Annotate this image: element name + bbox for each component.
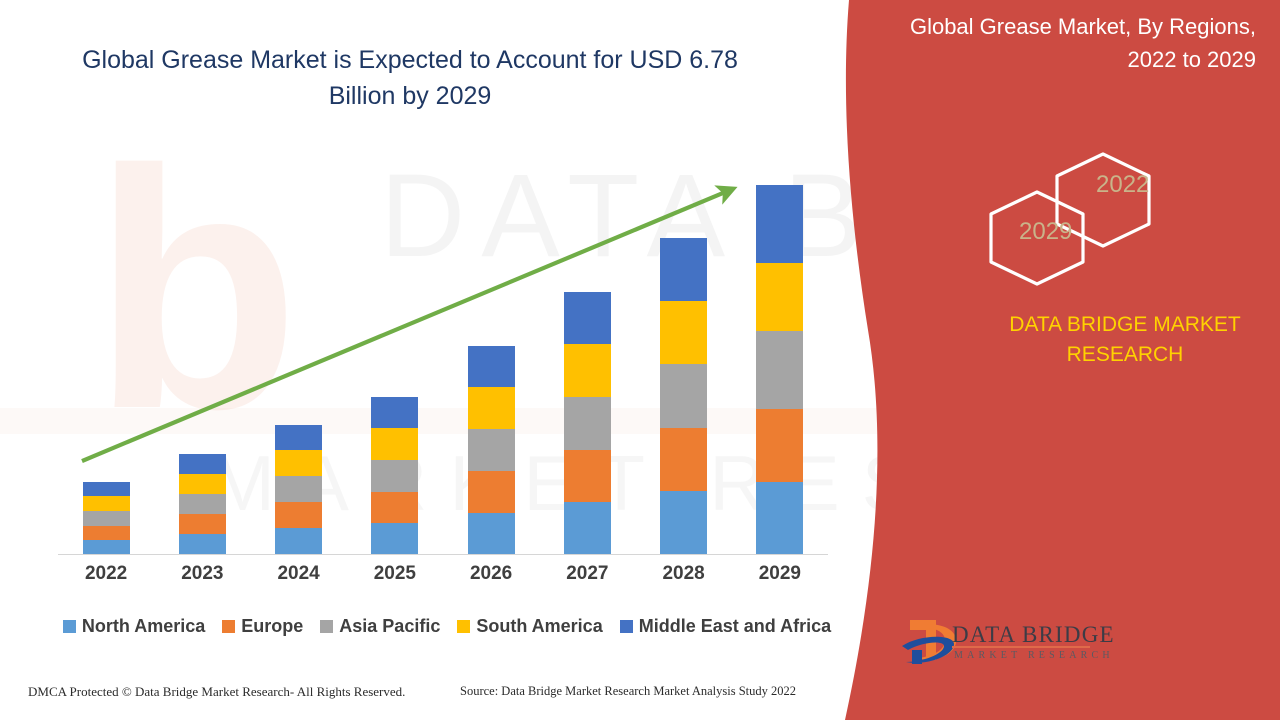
- legend-label: Asia Pacific: [339, 616, 440, 637]
- bar-segment[interactable]: [564, 450, 611, 502]
- bar-group: [58, 150, 828, 554]
- legend-swatch-icon: [63, 620, 76, 633]
- bar-slot: [443, 150, 539, 554]
- stacked-bar[interactable]: [564, 292, 611, 554]
- bar-segment[interactable]: [468, 429, 515, 471]
- chart-title: Global Grease Market is Expected to Acco…: [60, 42, 760, 115]
- x-axis-label: 2024: [251, 563, 347, 585]
- bar-segment[interactable]: [83, 540, 130, 554]
- x-axis-labels: 20222023202420252026202720282029: [58, 563, 828, 585]
- stacked-bar[interactable]: [371, 397, 418, 554]
- legend-item[interactable]: South America: [457, 616, 602, 637]
- bar-segment[interactable]: [275, 528, 322, 554]
- legend-swatch-icon: [457, 620, 470, 633]
- legend-swatch-icon: [320, 620, 333, 633]
- stacked-bar[interactable]: [179, 454, 226, 554]
- bar-segment[interactable]: [179, 474, 226, 494]
- hexagon-label-2029: 2029: [1019, 218, 1072, 246]
- bar-segment[interactable]: [660, 301, 707, 364]
- bar-segment[interactable]: [275, 450, 322, 476]
- bar-slot: [539, 150, 635, 554]
- dbmr-logo-name: DATA BRIDGE: [952, 622, 1115, 648]
- bar-segment[interactable]: [371, 397, 418, 428]
- bar-segment[interactable]: [756, 185, 803, 263]
- bar-slot: [636, 150, 732, 554]
- legend-label: Middle East and Africa: [639, 616, 831, 637]
- x-axis-label: 2027: [539, 563, 635, 585]
- legend-label: South America: [476, 616, 602, 637]
- hexagon-label-2022: 2022: [1096, 171, 1149, 199]
- stacked-bar[interactable]: [275, 425, 322, 554]
- legend-item[interactable]: Middle East and Africa: [620, 616, 831, 637]
- bar-segment[interactable]: [756, 331, 803, 409]
- bar-segment[interactable]: [468, 471, 515, 513]
- bar-segment[interactable]: [179, 454, 226, 474]
- legend-swatch-icon: [620, 620, 633, 633]
- bar-segment[interactable]: [756, 482, 803, 554]
- chart-plot-area: [58, 150, 828, 555]
- dbmr-logo-subtitle: MARKET RESEARCH: [954, 650, 1114, 661]
- bar-segment[interactable]: [275, 476, 322, 502]
- bar-segment[interactable]: [660, 491, 707, 554]
- legend-label: Europe: [241, 616, 303, 637]
- legend-label: North America: [82, 616, 205, 637]
- dbmr-logo-rule: [952, 646, 1090, 648]
- footer-copyright: DMCA Protected © Data Bridge Market Rese…: [28, 684, 405, 700]
- x-axis-label: 2026: [443, 563, 539, 585]
- footer-source: Source: Data Bridge Market Research Mark…: [460, 684, 796, 699]
- stacked-bar[interactable]: [660, 238, 707, 554]
- bar-slot: [58, 150, 154, 554]
- bar-segment[interactable]: [83, 511, 130, 526]
- legend-swatch-icon: [222, 620, 235, 633]
- x-axis-label: 2025: [347, 563, 443, 585]
- panel-brand-text: DATA BRIDGE MARKET RESEARCH: [960, 310, 1280, 371]
- bar-segment[interactable]: [564, 344, 611, 397]
- bar-segment[interactable]: [756, 409, 803, 482]
- bar-segment[interactable]: [564, 502, 611, 554]
- stacked-bar[interactable]: [468, 346, 515, 554]
- bar-segment[interactable]: [756, 263, 803, 331]
- bar-segment[interactable]: [468, 346, 515, 387]
- bar-segment[interactable]: [179, 534, 226, 554]
- chart-legend: North AmericaEuropeAsia PacificSouth Ame…: [52, 616, 842, 637]
- x-axis-label: 2022: [58, 563, 154, 585]
- hexagon-pair: [985, 150, 1185, 290]
- bar-segment[interactable]: [83, 526, 130, 540]
- bar-segment[interactable]: [660, 428, 707, 491]
- legend-item[interactable]: Europe: [222, 616, 303, 637]
- x-axis-label: 2029: [732, 563, 828, 585]
- x-axis-label: 2028: [636, 563, 732, 585]
- x-axis-line: [58, 554, 828, 555]
- legend-item[interactable]: Asia Pacific: [320, 616, 440, 637]
- bar-segment[interactable]: [660, 238, 707, 301]
- panel-title: Global Grease Market, By Regions, 2022 t…: [884, 10, 1256, 76]
- bar-slot: [251, 150, 347, 554]
- bar-segment[interactable]: [179, 494, 226, 514]
- bar-segment[interactable]: [564, 397, 611, 450]
- bar-segment[interactable]: [179, 514, 226, 534]
- bar-segment[interactable]: [564, 292, 611, 344]
- infographic-page: b DATA BRIDGE MARKET RESEARCH Global Gre…: [0, 0, 1280, 720]
- bar-slot: [732, 150, 828, 554]
- legend-item[interactable]: North America: [63, 616, 205, 637]
- bar-segment[interactable]: [275, 502, 322, 528]
- bar-segment[interactable]: [371, 428, 418, 460]
- stacked-bar[interactable]: [756, 185, 803, 554]
- bar-segment[interactable]: [83, 496, 130, 511]
- x-axis-label: 2023: [154, 563, 250, 585]
- bar-segment[interactable]: [371, 523, 418, 554]
- bar-segment[interactable]: [371, 460, 418, 492]
- bar-slot: [154, 150, 250, 554]
- bar-segment[interactable]: [468, 387, 515, 429]
- bar-segment[interactable]: [275, 425, 322, 450]
- bar-segment[interactable]: [468, 513, 515, 554]
- bar-segment[interactable]: [83, 482, 130, 496]
- bar-segment[interactable]: [660, 364, 707, 428]
- bar-segment[interactable]: [371, 492, 418, 523]
- bar-slot: [347, 150, 443, 554]
- stacked-bar[interactable]: [83, 482, 130, 554]
